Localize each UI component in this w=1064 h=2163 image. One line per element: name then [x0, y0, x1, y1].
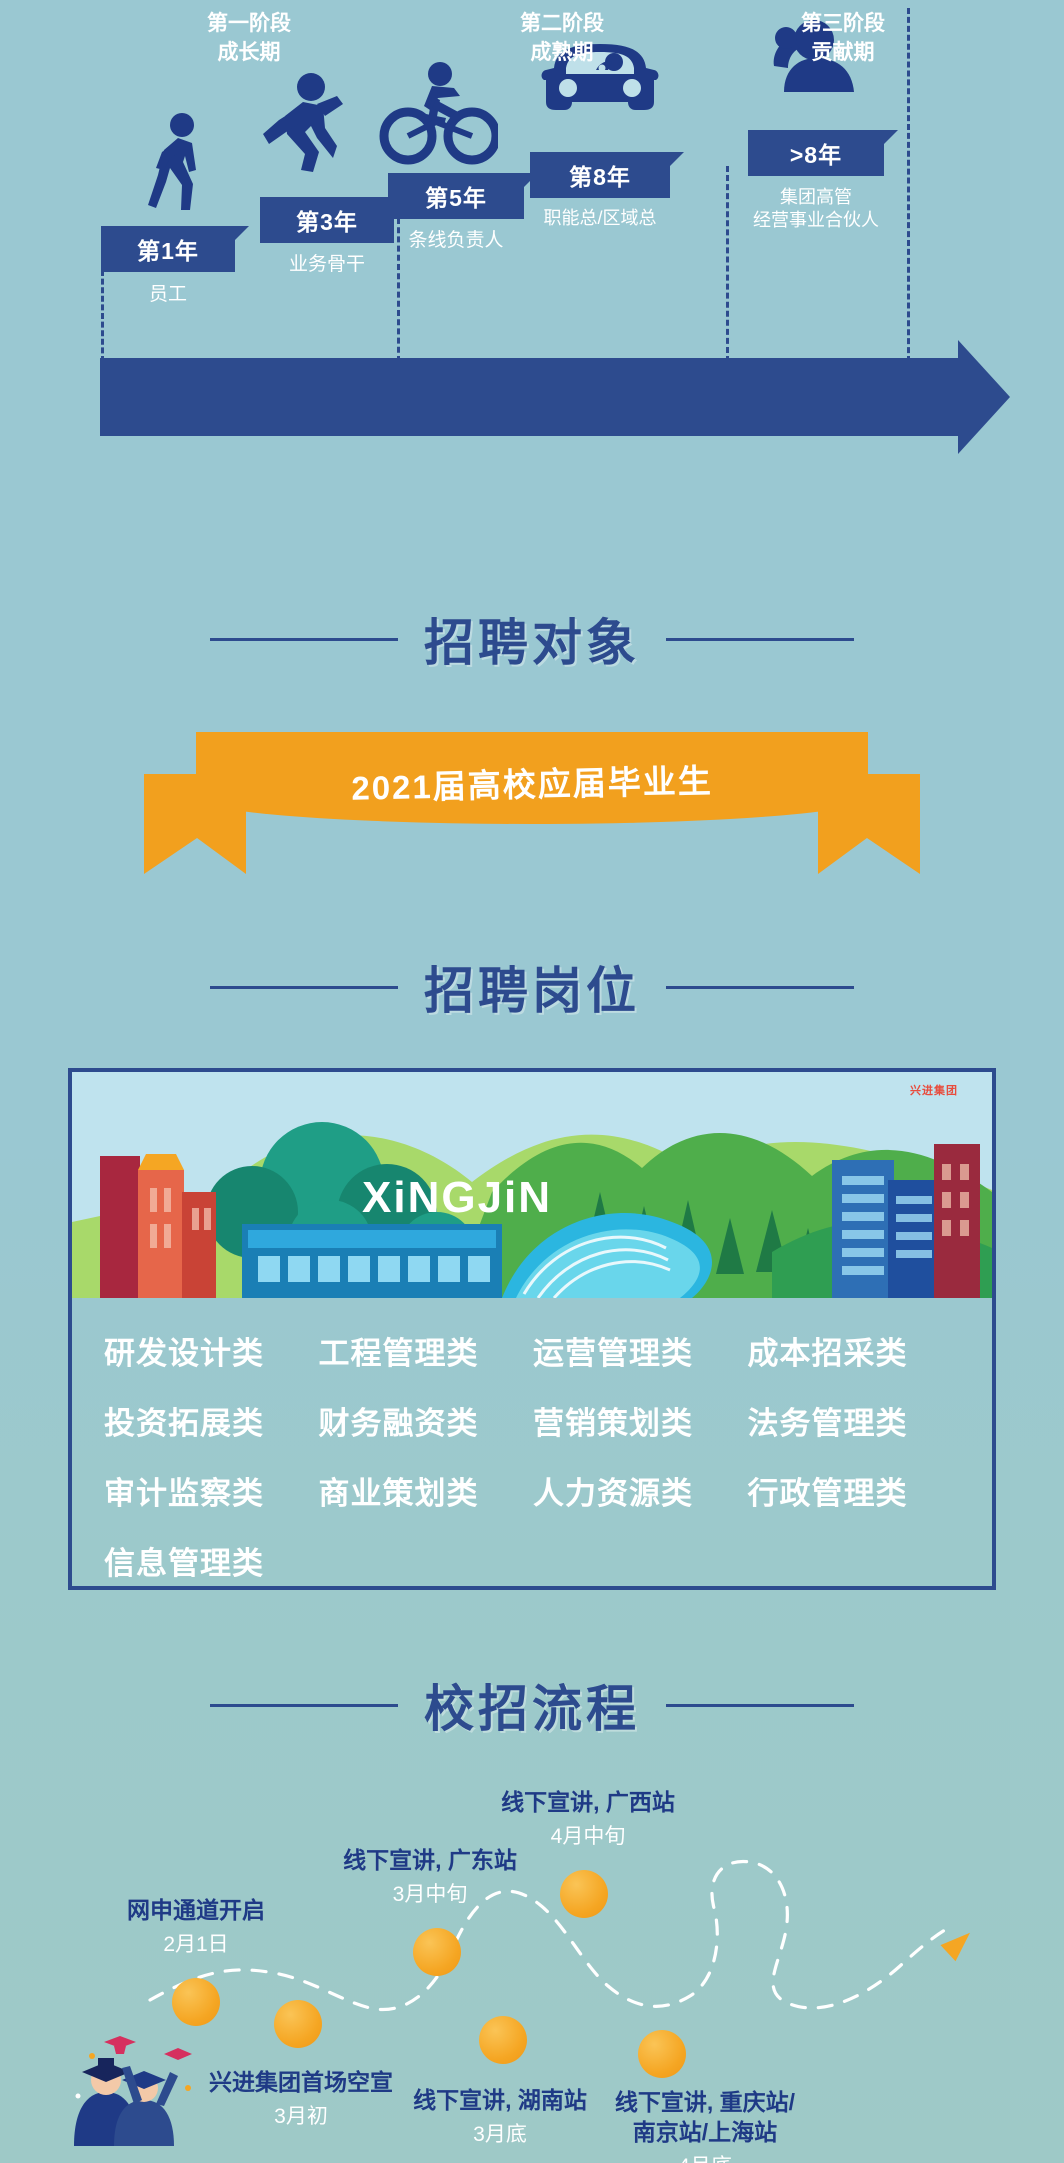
job-category-item: 行政管理类 — [748, 1468, 963, 1520]
job-category-item: 工程管理类 — [319, 1328, 534, 1380]
career-path-timeline: 第1年 员工 第3年 业务骨干 第5年 条线负责人 第8年 职能总/区域总 >8… — [0, 0, 1064, 470]
process-step-date: 4月底 — [540, 2153, 870, 2163]
process-step-label-6: 线下宣讲, 重庆站/ 南京站/上海站 4月底 — [540, 2088, 870, 2163]
job-category-item: 投资拓展类 — [104, 1398, 319, 1450]
milestone-role-caption-1: 员工 — [101, 283, 235, 307]
section-heading-target: 招聘对象 — [0, 602, 1064, 676]
career-stage-arrow-head — [958, 340, 1010, 454]
milestone-year-label: 第8年 — [569, 158, 631, 192]
stage-subtitle: 成熟期 — [531, 39, 594, 68]
milestone-year-chip-4: 第8年 — [530, 152, 670, 198]
job-category-item: 研发设计类 — [104, 1328, 319, 1380]
target-ribbon: 2021届高校应届毕业生 — [0, 722, 1064, 882]
milestone-role-caption-3: 条线负责人 — [378, 229, 534, 253]
process-step-date: 2月1日 — [56, 1931, 336, 1958]
job-category-item: 财务融资类 — [319, 1398, 534, 1450]
milestone-role-label: 职能总/区域总 — [543, 208, 656, 228]
process-step-label-5: 线下宣讲, 广西站 4月中旬 — [448, 1788, 728, 1850]
job-category-item: 营销策划类 — [533, 1398, 748, 1450]
process-step-name: 线下宣讲, 广东站 — [290, 1846, 570, 1876]
milestone-year-label: 第5年 — [425, 179, 487, 213]
process-step-name: 线下宣讲, 广西站 — [448, 1788, 728, 1818]
recruitment-poster: 第1年 员工 第3年 业务骨干 第5年 条线负责人 第8年 职能总/区域总 >8… — [0, 0, 1064, 2163]
job-category-item: 成本招采类 — [748, 1328, 963, 1380]
milestone-role-caption-4: 职能总/区域总 — [513, 207, 687, 230]
job-category-item: 法务管理类 — [748, 1398, 963, 1450]
stage-subtitle: 成长期 — [218, 39, 281, 68]
ribbon-banner: 2021届高校应届毕业生 — [196, 732, 868, 824]
milestone-year-chip-5: >8年 — [748, 130, 884, 176]
milestone-role-label: 条线负责人 — [408, 230, 503, 251]
career-stage-2: 第二阶段 成熟期 — [398, 0, 726, 78]
job-category-grid: 研发设计类 工程管理类 运营管理类 成本招采类 投资拓展类 财务融资类 营销策划… — [72, 1302, 992, 1590]
process-step-label-3: 线下宣讲, 广东站 3月中旬 — [290, 1846, 570, 1908]
process-step-dot-2 — [274, 2000, 322, 2048]
process-step-dot-3 — [413, 1928, 461, 1976]
job-category-item: 商业策划类 — [319, 1468, 534, 1520]
heading-rule-left — [210, 986, 398, 989]
process-step-name-line2: 南京站/上海站 — [540, 2118, 870, 2148]
milestone-year-chip-2: 第3年 — [260, 197, 394, 243]
page-title-target: 招聘对象 — [424, 603, 640, 675]
career-stage-3: 第三阶段 贡献期 — [726, 0, 960, 78]
process-step-date: 4月中旬 — [448, 1823, 728, 1850]
campus-illustration: XiNGJiN — [72, 1072, 992, 1298]
process-step-name: 线下宣讲, 重庆站/ — [540, 2088, 870, 2118]
walking-person-icon — [140, 112, 214, 218]
career-stage-1: 第一阶段 成长期 — [100, 0, 398, 78]
milestone-year-label: 第3年 — [296, 203, 358, 237]
graduates-illustration — [48, 1996, 208, 2146]
milestone-year-label: >8年 — [790, 136, 842, 170]
campus-illustration-banner: XiNGJiN 兴进集团 — [72, 1072, 992, 1298]
process-step-dot-6 — [638, 2030, 686, 2078]
process-step-date: 3月中旬 — [290, 1881, 570, 1908]
section-heading-positions: 招聘岗位 — [0, 950, 1064, 1024]
milestone-year-chip-1: 第1年 — [101, 226, 235, 272]
milestone-year-label: 第1年 — [137, 232, 199, 266]
milestone-role-caption-5: 集团高管 经营事业合伙人 — [726, 186, 906, 231]
heading-rule-right — [666, 986, 854, 989]
job-categories-panel: XiNGJiN 兴进集团 研发设计类 工程管理类 运营管理类 成本招采类 投资拓… — [68, 1068, 996, 1590]
job-category-item: 人力资源类 — [533, 1468, 748, 1520]
milestone-year-chip-3: 第5年 — [388, 173, 524, 219]
page-title-positions: 招聘岗位 — [424, 951, 640, 1023]
ribbon-label: 2021届高校应届毕业生 — [196, 751, 869, 813]
stage-subtitle: 贡献期 — [812, 39, 875, 68]
svg-text:XiNGJiN: XiNGJiN — [362, 1173, 552, 1222]
heading-rule-right — [666, 638, 854, 641]
milestone-role-caption-2: 业务骨干 — [260, 253, 394, 277]
stage-title: 第二阶段 — [520, 10, 604, 39]
job-category-item: 运营管理类 — [533, 1328, 748, 1380]
milestone-role-label: 员工 — [149, 284, 187, 305]
stage-title: 第三阶段 — [801, 10, 885, 39]
process-step-dot-4 — [479, 2016, 527, 2064]
milestone-role-label-line1: 集团高管 — [780, 187, 852, 207]
heading-rule-left — [210, 638, 398, 641]
milestone-role-label: 业务骨干 — [289, 254, 365, 275]
stage-title: 第一阶段 — [207, 10, 291, 39]
career-stage-bar — [100, 358, 960, 436]
job-category-item: 信息管理类 — [104, 1538, 319, 1590]
brand-logo-label: 兴进集团 — [910, 1082, 958, 1098]
milestone-role-label-line2: 经营事业合伙人 — [753, 210, 879, 230]
job-category-item: 审计监察类 — [104, 1468, 319, 1520]
running-person-icon — [255, 72, 351, 182]
